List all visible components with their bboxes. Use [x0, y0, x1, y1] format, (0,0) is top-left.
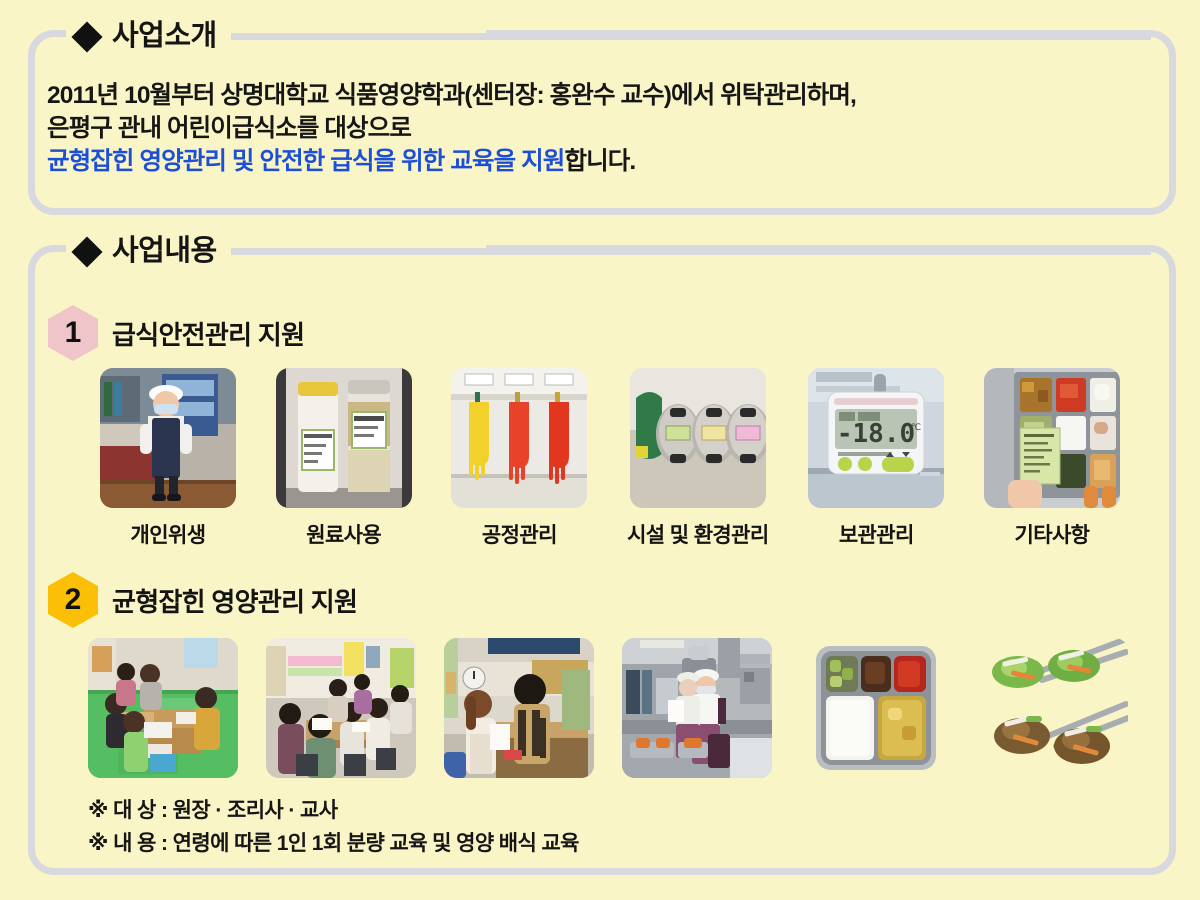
photo-cell[interactable] [444, 638, 594, 778]
color-coded-rubber-gloves-photo[interactable] [451, 368, 587, 508]
photo-cell[interactable]: 기타사항 [984, 368, 1120, 549]
note-colon: : [161, 832, 167, 855]
diamond-bullet-icon [71, 21, 102, 52]
photo-caption: 보관관리 [839, 519, 914, 549]
photo-cell[interactable] [800, 638, 950, 778]
photo-caption: 공정관리 [482, 519, 557, 549]
intro-line-1: 2011년 10월부터 상명대학교 식품영양학과(센터장: 홍완수 교수)에서 … [47, 80, 1157, 113]
item-2-title: 균형잡힌 영양관리 지원 [112, 582, 357, 619]
photo-cell[interactable] [88, 638, 238, 778]
svg-text:-18.0: -18.0 [837, 419, 915, 449]
content-header-rule [231, 248, 1151, 255]
kitchen-consultation-photo[interactable] [444, 638, 594, 778]
intro-paragraph: 2011년 10월부터 상명대학교 식품영양학과(센터장: 홍완수 교수)에서 … [47, 80, 1157, 178]
note-marker-icon: ※ [88, 799, 108, 822]
photo-cell[interactable] [622, 638, 772, 778]
photo-cell[interactable]: 시설 및 환경관리 [627, 368, 769, 549]
intro-header-rule [231, 33, 1151, 40]
note-line: ※ 대 상 : 원장 · 조리사 · 교사 [88, 795, 579, 828]
photo-cell[interactable]: 원료사용 [276, 368, 412, 549]
item-2-header: 2 균형잡힌 영양관리 지원 [48, 572, 357, 628]
photo-caption: 시설 및 환경관리 [627, 519, 769, 549]
labeled-ingredient-bottles-photo[interactable] [276, 368, 412, 508]
item-1-header: 1 급식안전관리 지원 [48, 305, 304, 361]
item-1-photo-row: 개인위생 [100, 368, 1120, 549]
poster-page: 사업소개 2011년 10월부터 상명대학교 식품영양학과(센터장: 홍완수 교… [0, 0, 1200, 900]
labeled-waste-bins-photo[interactable] [630, 368, 766, 508]
intro-section-header: 사업소개 [76, 22, 1151, 51]
content-section-header: 사업내용 [76, 237, 1151, 266]
photo-cell[interactable] [266, 638, 416, 778]
notes-block: ※ 대 상 : 원장 · 조리사 · 교사 ※ 내 용 : 연령에 따른 1인 … [88, 795, 579, 860]
content-section-title: 사업내용 [112, 237, 217, 266]
item-1-title: 급식안전관리 지원 [112, 315, 304, 352]
photo-caption: 기타사항 [1015, 519, 1090, 549]
note-marker-icon: ※ [88, 832, 108, 855]
item-1-number-badge: 1 [48, 305, 98, 361]
cook-in-uniform-photo[interactable] [100, 368, 236, 508]
classroom-group-education-photo[interactable] [88, 638, 238, 778]
kitchen-inspection-photo[interactable] [622, 638, 772, 778]
photo-cell[interactable]: 개인위생 [100, 368, 236, 549]
photo-caption: 개인위생 [131, 519, 206, 549]
item-2-number-badge: 2 [48, 572, 98, 628]
photo-caption: 원료사용 [306, 519, 381, 549]
refrigerator-thermometer-photo[interactable]: -18.0 ℃ [808, 368, 944, 508]
note-label: 내 용 [113, 832, 156, 855]
portioned-meal-tray-photo [800, 638, 950, 778]
note-label: 대 상 [113, 799, 156, 822]
intro-line-2: 은평구 관내 어린이급식소를 대상으로 [47, 113, 1157, 146]
intro-line-3: 균형잡힌 영양관리 및 안전한 급식을 위한 교육을 지원합니다. [47, 146, 1157, 179]
note-line: ※ 내 용 : 연령에 따른 1인 1회 분량 교육 및 영양 배식 교육 [88, 828, 579, 861]
portion-size-tongs-photo [978, 638, 1128, 778]
intro-line-3-tail: 합니다. [564, 148, 635, 175]
photo-cell[interactable]: 공정관리 [451, 368, 587, 549]
item-2-photo-row [88, 638, 1128, 778]
note-value: 원장 · 조리사 · 교사 [173, 799, 338, 822]
photo-cell[interactable] [978, 638, 1128, 778]
teacher-training-session-photo[interactable] [266, 638, 416, 778]
note-value: 연령에 따른 1인 1회 분량 교육 및 영양 배식 교육 [173, 832, 579, 855]
photo-cell[interactable]: -18.0 ℃ 보관관리 [808, 368, 944, 549]
intro-section-title: 사업소개 [112, 22, 217, 51]
svg-text:℃: ℃ [911, 423, 921, 433]
intro-highlight-text: 균형잡힌 영양관리 및 안전한 급식을 위한 교육을 지원 [47, 148, 564, 175]
diamond-bullet-icon [71, 236, 102, 267]
note-colon: : [161, 799, 167, 822]
meal-tray-with-label-photo[interactable] [984, 368, 1120, 508]
